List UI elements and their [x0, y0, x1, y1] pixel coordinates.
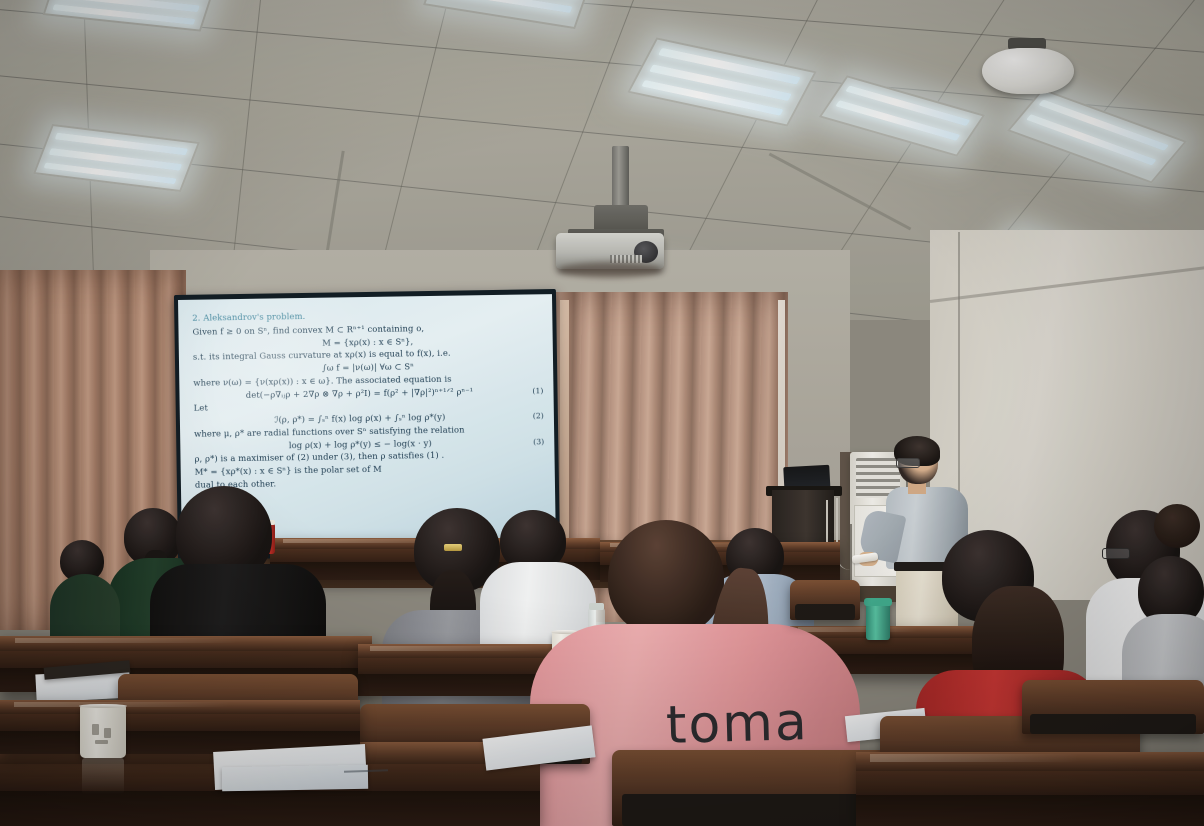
ceiling-light-fixture: [423, 0, 591, 29]
slide-equation-1-tag: (1): [525, 385, 543, 397]
water-bottle-cap: [589, 603, 604, 610]
ceiling-light-fixture: [33, 124, 200, 192]
chair-back[interactable]: [1022, 680, 1204, 734]
projector-mount-pole: [612, 146, 629, 210]
eyeglasses-icon: [1102, 548, 1130, 559]
thermos-cap: [864, 598, 892, 606]
slide-equation-2-tag: (2): [526, 410, 544, 422]
paper-cup: [80, 706, 126, 758]
attendee-hair-bun: [1154, 504, 1200, 548]
cup-reflection: [82, 758, 124, 794]
shirt-logo-text: toma: [665, 692, 809, 756]
lecture-hall-photo: 2. Aleksandrov's problem. Given f ≥ 0 on…: [0, 0, 1204, 826]
chair-back[interactable]: [790, 580, 860, 620]
ceiling-speaker-dome-icon: [982, 48, 1074, 94]
screen-glare: [178, 294, 390, 460]
thermos-bottle: [866, 602, 890, 640]
ceiling-light-fixture: [1007, 88, 1187, 183]
eyeglasses-icon: [896, 458, 920, 468]
projector-shadow: [558, 262, 662, 278]
ceiling-light-fixture: [627, 37, 817, 126]
hair-clip: [444, 544, 462, 551]
desk-row-front-right: [856, 752, 1204, 826]
slide-equation-3-tag: (3): [526, 436, 544, 448]
desk-row-front-left: [0, 700, 360, 754]
attendee-head: [608, 520, 724, 636]
ceiling-light-fixture: [43, 0, 217, 32]
handout-papers: [222, 765, 368, 792]
